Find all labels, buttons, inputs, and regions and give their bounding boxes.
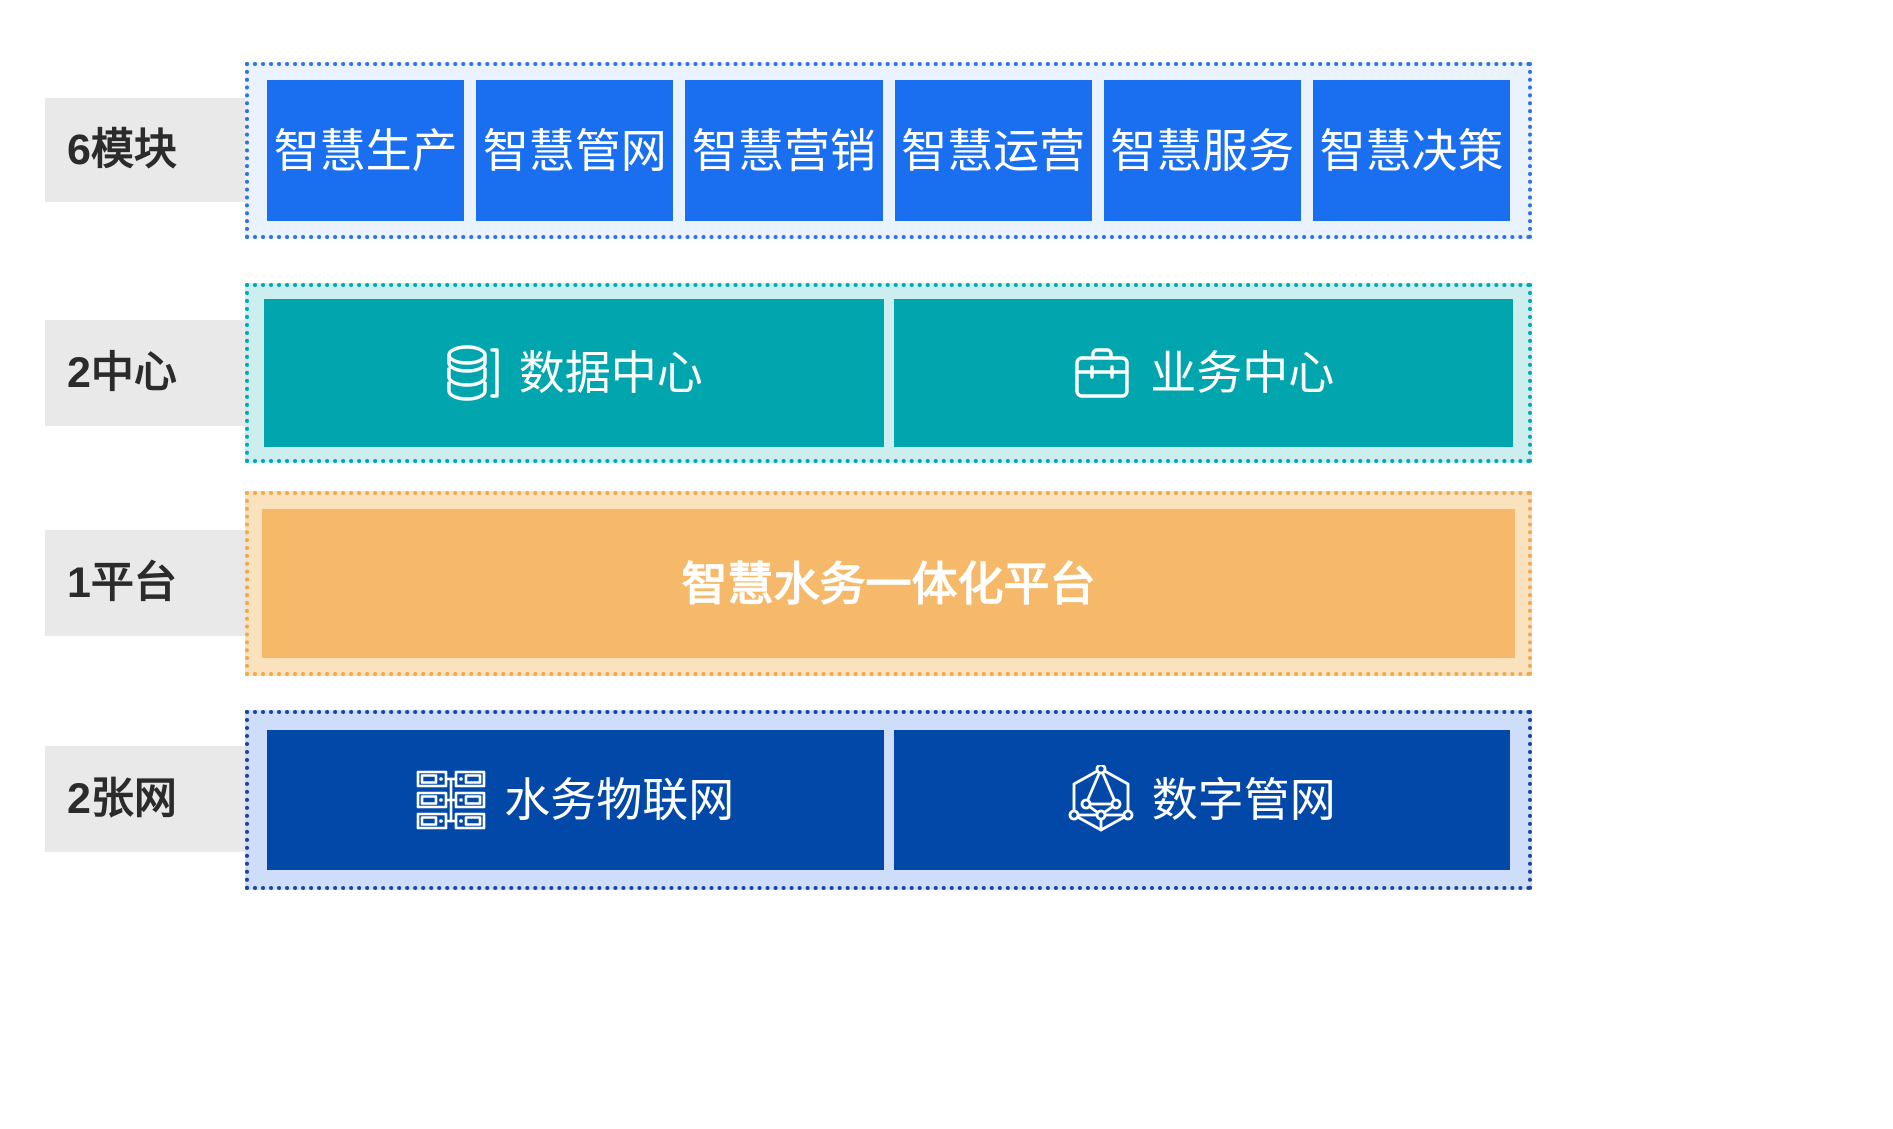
center-cell-data-center[interactable]: 数据中心 <box>264 299 884 447</box>
center-label-business-center: 业务中心 <box>1150 350 1334 396</box>
arrow-label-centers: 2中心 <box>45 320 253 426</box>
module-label-smart-marketing: 智慧营销 <box>692 128 876 174</box>
network-cell-water-iot[interactable]: 水务物联网 <box>267 730 884 870</box>
networks-band-inner: 水务物联网 <box>262 730 1515 870</box>
arrow-label-text-modules: 6模块 <box>67 129 177 172</box>
arrow-label-text-centers: 2中心 <box>67 352 177 395</box>
networks-band: 水务物联网 <box>245 710 1532 890</box>
centers-band-inner: 数据中心 业务中心 <box>259 299 1518 447</box>
arrow-shape-platform: 1平台 <box>45 530 253 636</box>
platform-band-inner: 智慧水务一体化平台 <box>262 509 1515 658</box>
arrow-label-networks: 2张网 <box>45 746 253 852</box>
module-label-smart-decision: 智慧决策 <box>1319 128 1503 174</box>
module-label-smart-pipe-network: 智慧管网 <box>483 128 667 174</box>
database-icon <box>445 342 501 404</box>
network-label-digital-pipe-network: 数字管网 <box>1152 777 1336 823</box>
briefcase-icon <box>1072 345 1132 401</box>
module-cell-smart-service[interactable]: 智慧服务 <box>1104 80 1301 221</box>
arrow-shape-modules: 6模块 <box>45 98 253 202</box>
module-cell-smart-operation[interactable]: 智慧运营 <box>895 80 1092 221</box>
platform-label-integrated-platform: 智慧水务一体化平台 <box>682 561 1096 607</box>
module-cell-smart-production[interactable]: 智慧生产 <box>267 80 464 221</box>
network-cell-digital-pipe-network[interactable]: 数字管网 <box>894 730 1511 870</box>
arrow-label-text-platform: 1平台 <box>67 562 177 605</box>
platform-band: 智慧水务一体化平台 <box>245 491 1532 676</box>
network-graph-icon <box>1068 765 1134 835</box>
centers-band: 数据中心 业务中心 <box>245 283 1532 463</box>
module-label-smart-production: 智慧生产 <box>274 128 458 174</box>
server-rack-icon <box>416 769 486 831</box>
center-cell-business-center[interactable]: 业务中心 <box>894 299 1514 447</box>
arrow-label-platform: 1平台 <box>45 530 253 636</box>
module-label-smart-operation: 智慧运营 <box>901 128 1085 174</box>
module-cell-smart-pipe-network[interactable]: 智慧管网 <box>476 80 673 221</box>
center-label-data-center: 数据中心 <box>519 350 703 396</box>
module-label-smart-service: 智慧服务 <box>1110 128 1294 174</box>
arrow-label-modules: 6模块 <box>45 98 253 202</box>
modules-band-inner: 智慧生产 智慧管网 智慧营销 智慧运营 智慧服务 智慧决策 <box>261 80 1516 221</box>
arrow-shape-networks: 2张网 <box>45 746 253 852</box>
platform-cell-integrated-platform[interactable]: 智慧水务一体化平台 <box>262 509 1515 658</box>
modules-band: 智慧生产 智慧管网 智慧营销 智慧运营 智慧服务 智慧决策 <box>245 62 1532 239</box>
module-cell-smart-marketing[interactable]: 智慧营销 <box>685 80 882 221</box>
architecture-diagram: 6模块 智慧生产 智慧管网 智慧营销 智慧运营 智慧服务 <box>0 0 1893 1129</box>
arrow-shape-centers: 2中心 <box>45 320 253 426</box>
module-cell-smart-decision[interactable]: 智慧决策 <box>1313 80 1510 221</box>
arrow-label-text-networks: 2张网 <box>67 778 177 821</box>
network-label-water-iot: 水务物联网 <box>504 777 734 823</box>
